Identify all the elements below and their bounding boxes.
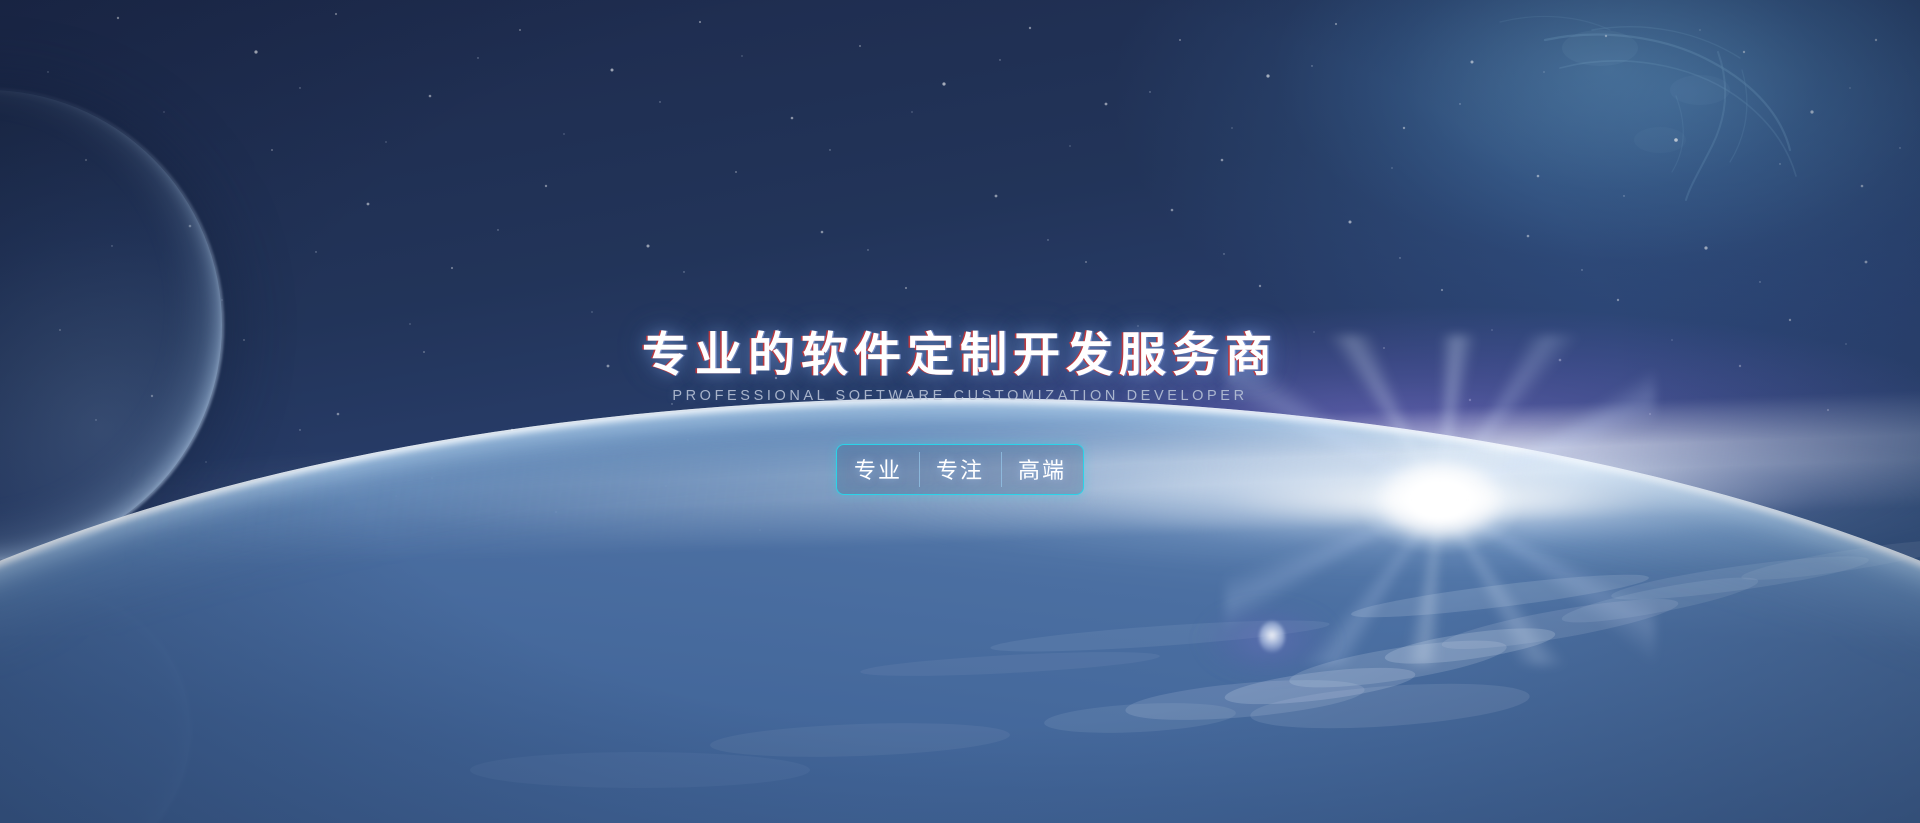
- hero-banner: 专业的软件定制开发服务商 PROFESSIONAL SOFTWARE CUSTO…: [0, 0, 1920, 823]
- badge-item-professional[interactable]: 专业: [837, 445, 919, 494]
- hero-headline: 专业的软件定制开发服务商: [642, 330, 1278, 379]
- hero-subheadline: PROFESSIONAL SOFTWARE CUSTOMIZATION DEVE…: [672, 388, 1247, 404]
- badge-item-focused[interactable]: 专注: [919, 445, 1001, 494]
- keyword-badge-group: 专业 专注 高端: [836, 444, 1084, 495]
- badge-item-premium[interactable]: 高端: [1001, 445, 1083, 494]
- hero-content: 专业的软件定制开发服务商 PROFESSIONAL SOFTWARE CUSTO…: [0, 0, 1920, 823]
